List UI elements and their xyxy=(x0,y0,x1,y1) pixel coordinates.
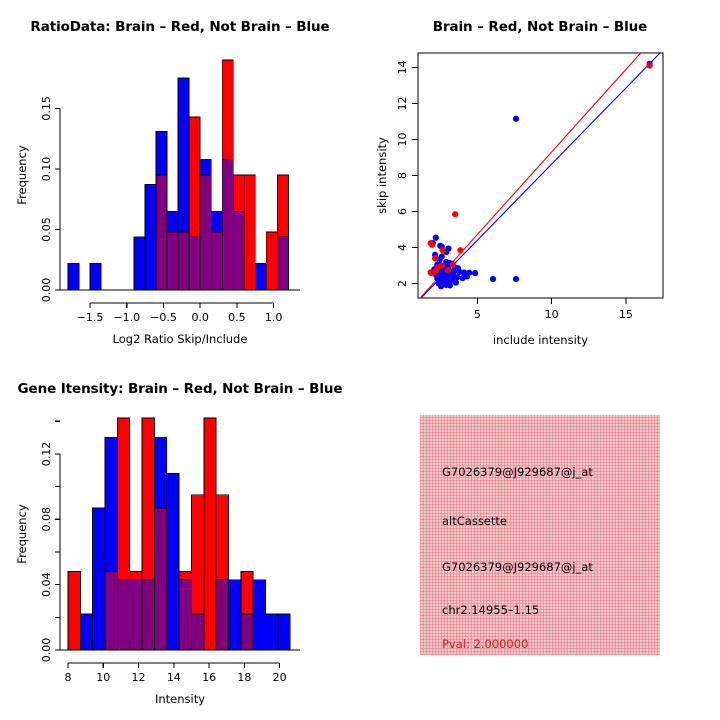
histogram-bar-overlap xyxy=(130,580,142,650)
x-axis-tick-label: 14 xyxy=(167,671,181,684)
gene-intensity-svg: 0.000.040.080.12Frequency8101214161820In… xyxy=(0,360,360,720)
x-axis-tick-label: 8 xyxy=(65,671,72,684)
x-axis-tick-label: 10 xyxy=(96,671,110,684)
histogram-bar-overlap xyxy=(222,159,233,290)
scatter-point xyxy=(450,271,456,277)
histogram-bar-overlap xyxy=(154,508,166,650)
histogram-bar-overlap xyxy=(211,232,222,290)
scatter-point xyxy=(438,283,444,289)
y-axis-tick-label: 0.00 xyxy=(40,278,53,303)
x-axis-tick-label: −1.5 xyxy=(77,311,104,324)
y-axis-tick-label: 0.08 xyxy=(40,507,53,532)
histogram-bar xyxy=(266,614,278,650)
histogram-bar-overlap xyxy=(241,614,253,650)
y-axis-title: Frequency xyxy=(15,145,29,205)
histogram-bar-overlap xyxy=(117,580,129,650)
scatter-point xyxy=(439,247,445,253)
x-axis-tick-label: 20 xyxy=(273,671,287,684)
probe-info-box: G7026379@J929687@j_at altCassette G70263… xyxy=(420,415,660,655)
scatter-point xyxy=(433,235,439,241)
gene-intensity-panel: Gene Itensity: Brain – Red, Not Brain – … xyxy=(0,360,360,720)
not-brain-fit-blue xyxy=(421,53,660,298)
y-axis-tick-label: 0.04 xyxy=(40,572,53,597)
ratio-histogram-panel: RatioData: Brain – Red, Not Brain – Blue… xyxy=(0,0,360,360)
plot-content xyxy=(420,53,660,298)
histogram-bar-overlap xyxy=(233,211,244,290)
y-axis-tick-label: 0.05 xyxy=(40,217,53,242)
x-axis-title: Intensity xyxy=(155,692,205,706)
y-axis-title: skip intensity xyxy=(375,137,389,214)
scatter-point xyxy=(429,242,435,248)
x-axis-tick-label: 12 xyxy=(132,671,146,684)
y-axis-title: Frequency xyxy=(15,504,29,564)
chromosome-location-line: chr2.14955–1.15 xyxy=(442,603,539,617)
y-axis-tick-label: 8 xyxy=(396,172,409,179)
y-axis-tick-label: 6 xyxy=(396,208,409,215)
scatter-point xyxy=(450,262,456,268)
histogram-bar-overlap xyxy=(105,572,117,650)
probe-id-line: G7026379@J929687@j_at xyxy=(442,465,593,479)
scatter-point xyxy=(513,116,519,122)
probe-id-secondary-line: G7026379@J929687@j_at xyxy=(442,560,593,574)
histogram-bar xyxy=(90,263,101,290)
scatter-point xyxy=(457,247,463,253)
histogram-bar-overlap xyxy=(200,175,211,290)
scatter-point xyxy=(445,267,451,273)
histogram-bar-overlap xyxy=(191,614,203,650)
scatter-point xyxy=(464,273,470,279)
x-axis-title: include intensity xyxy=(493,333,588,347)
histogram-bar xyxy=(68,263,79,290)
histogram-bar xyxy=(255,263,266,290)
x-axis-tick-label: 16 xyxy=(202,671,216,684)
histogram-bar xyxy=(266,232,277,290)
scatter-point xyxy=(447,282,453,288)
intensity-scatter-svg: 2468101214skip intensity51015include int… xyxy=(360,0,720,360)
x-axis-tick-label: −1.0 xyxy=(113,311,140,324)
x-axis-tick-label: 1.0 xyxy=(265,311,283,324)
histogram-bar xyxy=(253,580,265,650)
y-axis-tick-label: 4 xyxy=(396,244,409,251)
histogram-bar xyxy=(93,508,105,650)
scatter-point xyxy=(647,63,653,69)
scatter-point xyxy=(490,276,496,282)
y-axis-tick-label: 2 xyxy=(396,280,409,287)
histogram-bar-overlap xyxy=(179,580,191,650)
x-axis-tick-label: 18 xyxy=(237,671,251,684)
histogram-bar-overlap xyxy=(277,237,288,290)
histogram-bar-overlap xyxy=(167,232,178,290)
histogram-bar xyxy=(134,237,145,290)
y-axis-tick-label: 0.15 xyxy=(40,96,53,121)
histogram-bar xyxy=(80,614,92,650)
ratio-histogram-svg: 0.000.050.100.15Frequency−1.5−1.0−0.50.0… xyxy=(0,0,360,360)
histogram-bar xyxy=(244,175,255,290)
histogram-bar-overlap xyxy=(142,580,154,650)
scatter-point xyxy=(513,276,519,282)
histogram-bar-overlap xyxy=(216,580,228,650)
x-axis-tick-label: 10 xyxy=(545,308,559,321)
x-axis-title: Log2 Ratio Skip/Include xyxy=(113,332,248,346)
histogram-bar-overlap xyxy=(156,175,167,290)
histogram-bar xyxy=(278,614,290,650)
x-axis-tick-label: 0.5 xyxy=(228,311,246,324)
histogram-bar xyxy=(167,474,179,650)
pvalue-line: Pval: 2.000000 xyxy=(442,637,528,651)
scatter-point xyxy=(452,211,458,217)
x-axis-tick-label: 5 xyxy=(474,308,481,321)
histogram-bar xyxy=(229,580,241,650)
intensity-scatter-panel: Brain – Red, Not Brain – Blue 2468101214… xyxy=(360,0,720,360)
histogram-bar-overlap xyxy=(178,232,189,290)
y-axis-tick-label: 14 xyxy=(396,60,409,74)
x-axis-tick-label: 0.0 xyxy=(191,311,209,324)
event-type-line: altCassette xyxy=(442,514,507,528)
scatter-point xyxy=(432,255,438,261)
histogram-bar xyxy=(145,185,156,290)
y-axis-tick-label: 0.10 xyxy=(40,157,53,182)
x-axis-tick-label: −0.5 xyxy=(150,311,177,324)
scatter-point xyxy=(472,270,478,276)
histogram-bar-overlap xyxy=(189,237,200,290)
y-axis-tick-label: 0.00 xyxy=(40,638,53,663)
scatter-point xyxy=(453,280,459,286)
y-axis-tick-label: 0.12 xyxy=(40,442,53,467)
histogram-bar xyxy=(204,418,216,650)
scatter-point xyxy=(428,270,434,276)
y-axis-tick-label: 10 xyxy=(396,132,409,146)
histogram-bar xyxy=(68,572,80,650)
x-axis-tick-label: 15 xyxy=(619,308,633,321)
probe-info-panel: G7026379@J929687@j_at altCassette G70263… xyxy=(360,360,720,720)
y-axis-tick-label: 12 xyxy=(396,96,409,110)
